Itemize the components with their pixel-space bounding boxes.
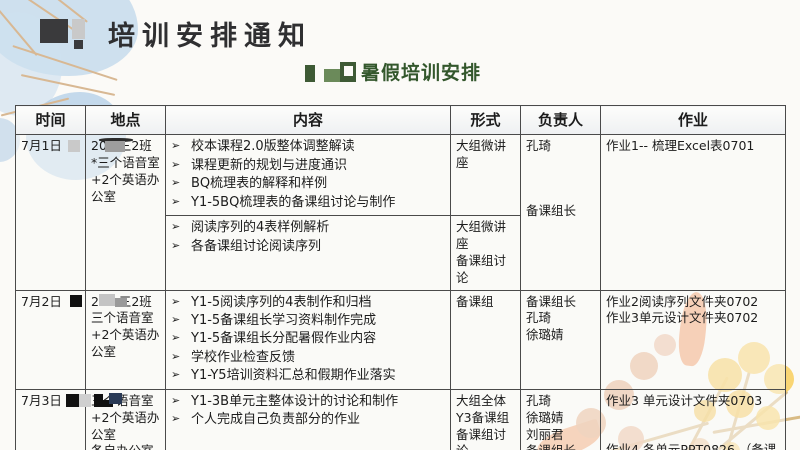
list-item: Y1-Y5培训资料汇总和假期作业落实 bbox=[171, 367, 445, 385]
cell-work-label: 作业2阅读序列文件夹0702 作业3单元设计文件夹0702 bbox=[606, 294, 758, 326]
cell-work-label: 作业1-- 梳理Excel表0701 bbox=[606, 138, 754, 153]
cell-form: 备课组 bbox=[451, 290, 521, 389]
cell-time: 7月2日 bbox=[16, 290, 86, 389]
cell-form: 大组全体 Y3备课组 备课组讨论 个人 bbox=[451, 389, 521, 450]
list-item: Y1-5阅读序列的4表制作和归档 bbox=[171, 294, 445, 312]
cell-time-label: 7月3日 bbox=[21, 393, 62, 408]
list-item: BQ梳理表的解释和样例 bbox=[171, 175, 445, 193]
cell-place-label: 207 三2班 *三个语音室+2个英语办公室 bbox=[91, 138, 160, 204]
column-header-form: 形式 bbox=[451, 106, 521, 135]
list-item: 校本课程2.0版整体调整解读 bbox=[171, 138, 445, 156]
cell-work-label-2: 作业4 各单元PPT0826 （备课组长） bbox=[606, 442, 776, 450]
square-block-icon bbox=[40, 17, 94, 51]
cell-form-label: 大组全体 Y3备课组 备课组讨论 个人 bbox=[456, 393, 509, 450]
cell-content: 校本课程2.0版整体调整解读 课程更新的规划与进度通识 BQ梳理表的解释和样例 … bbox=[166, 135, 451, 216]
content-bullet-list: 校本课程2.0版整体调整解读 课程更新的规划与进度通识 BQ梳理表的解释和样例 … bbox=[171, 138, 445, 212]
list-item: Y1-3B单元主整体设计的讨论和制作 bbox=[171, 393, 445, 411]
content-bullet-list: Y1-3B单元主整体设计的讨论和制作 个人完成自己负责部分的作业 bbox=[171, 393, 445, 430]
schedule-table: 时间 地点 内容 形式 负责人 作业 7月1日 bbox=[15, 105, 786, 450]
column-header-work: 作业 bbox=[601, 106, 786, 135]
cell-owner: 孔琦 备课组长 bbox=[521, 135, 601, 290]
green-block-icon bbox=[305, 61, 357, 83]
cell-work: 作业2阅读序列文件夹0702 作业3单元设计文件夹0702 bbox=[601, 290, 786, 389]
cell-work-label: 作业3 单元设计文件夹0703 bbox=[606, 393, 762, 408]
list-item: 学校作业检查反馈 bbox=[171, 349, 445, 367]
cell-place: 207 三2班 *三个语音室+2个英语办公室 bbox=[86, 135, 166, 290]
list-item: 个人完成自己负责部分的作业 bbox=[171, 411, 445, 429]
list-item: Y1-5BQ梳理表的备课组讨论与制作 bbox=[171, 194, 445, 212]
list-item: Y1-5备课组长分配暑假作业内容 bbox=[171, 330, 445, 348]
subtitle: 暑假培训安排 bbox=[361, 58, 481, 85]
list-item: 课程更新的规划与进度通识 bbox=[171, 157, 445, 175]
cell-owner: 孔琦 徐璐婧 刘丽君 备课组长 bbox=[521, 389, 601, 450]
cell-form: 大组微讲座 bbox=[451, 135, 521, 216]
cell-owner-label: 备课组长 孔琦 徐璐婧 bbox=[526, 294, 576, 343]
page-title: 培训安排通知 bbox=[108, 14, 312, 53]
cell-owner: 备课组长 孔琦 徐璐婧 bbox=[521, 290, 601, 389]
table-row: 7月3日 三个语音室+2个英语办公室 各自办公室 bbox=[16, 389, 786, 450]
table-row: 7月1日 207 三2班 *三个语音室+2个英语办公室 校本课程2.0版整体调整… bbox=[16, 135, 786, 216]
cell-place: 207 三2班 三个语音室+2个英语办公室 bbox=[86, 290, 166, 389]
column-header-time: 时间 bbox=[16, 106, 86, 135]
column-header-place: 地点 bbox=[86, 106, 166, 135]
cell-form-label: 大组微讲座 bbox=[456, 138, 506, 170]
slide: 培训安排通知 暑假培训安排 时间 地点 内容 形式 负责人 作业 bbox=[0, 0, 800, 450]
list-item: Y1-5备课组长学习资料制作完成 bbox=[171, 312, 445, 330]
cell-owner-label-2: 备课组长 bbox=[526, 203, 576, 218]
cell-form: 大组微讲座 备课组讨论 bbox=[451, 216, 521, 291]
cell-content: Y1-5阅读序列的4表制作和归档 Y1-5备课组长学习资料制作完成 Y1-5备课… bbox=[166, 290, 451, 389]
cell-time-label: 7月2日 bbox=[21, 294, 62, 309]
table-row: 7月2日 207 三2班 三个语音室+2个英语办公室 Y1-5阅读序列的4表制作… bbox=[16, 290, 786, 389]
content-bullet-list: 阅读序列的4表样例解析 各备课组讨论阅读序列 bbox=[171, 219, 445, 256]
subtitle-row: 暑假培训安排 bbox=[305, 58, 481, 85]
cell-work: 作业3 单元设计文件夹0703 作业4 各单元PPT0826 （备课组长） bbox=[601, 389, 786, 450]
cell-time: 7月1日 bbox=[16, 135, 86, 290]
cell-owner-label: 孔琦 bbox=[526, 138, 551, 153]
cell-form-label: 备课组 bbox=[456, 294, 494, 309]
content-bullet-list: Y1-5阅读序列的4表制作和归档 Y1-5备课组长学习资料制作完成 Y1-5备课… bbox=[171, 294, 445, 386]
cell-owner-label: 孔琦 徐璐婧 刘丽君 备课组长 bbox=[526, 393, 576, 450]
cell-content: 阅读序列的4表样例解析 各备课组讨论阅读序列 bbox=[166, 216, 451, 291]
column-header-content: 内容 bbox=[166, 106, 451, 135]
cell-form-label: 大组微讲座 备课组讨论 bbox=[456, 219, 506, 285]
list-item: 各备课组讨论阅读序列 bbox=[171, 238, 445, 256]
cell-time: 7月3日 bbox=[16, 389, 86, 450]
cell-time-label: 7月1日 bbox=[21, 138, 62, 153]
cell-content: Y1-3B单元主整体设计的讨论和制作 个人完成自己负责部分的作业 bbox=[166, 389, 451, 450]
list-item: 阅读序列的4表样例解析 bbox=[171, 219, 445, 237]
page-title-row: 培训安排通知 bbox=[40, 14, 312, 53]
column-header-owner: 负责人 bbox=[521, 106, 601, 135]
cell-work: 作业1-- 梳理Excel表0701 bbox=[601, 135, 786, 290]
table-header-row: 时间 地点 内容 形式 负责人 作业 bbox=[16, 106, 786, 135]
